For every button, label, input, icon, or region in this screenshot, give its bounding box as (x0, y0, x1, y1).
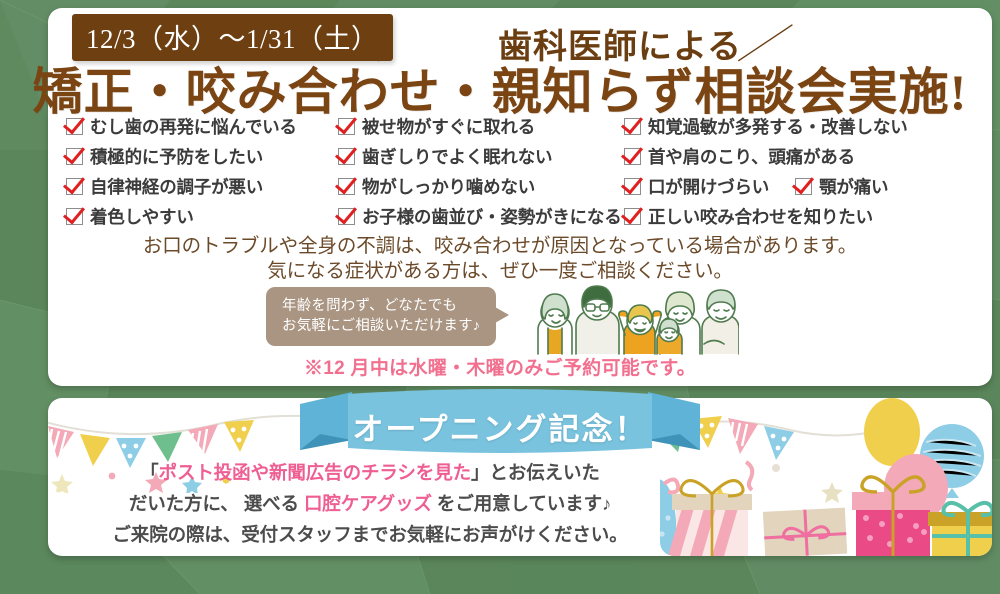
checkbox-checked-icon[interactable] (624, 118, 641, 135)
checklist-item[interactable]: 顎が痛い (795, 174, 888, 199)
checkbox-checked-icon[interactable] (338, 148, 355, 165)
campaign-line-2: だいた方に、 選べる 口腔ケアグッズ をご用意しています♪ (60, 488, 680, 519)
lead-paragraph: お口のトラブルや全身の不調は、咬み合わせが原因となっている場合があります。 気に… (0, 234, 1000, 284)
checklist-item-label: むし歯の再発に悩んでいる (90, 114, 297, 139)
checklist-item-label: 顎が痛い (819, 174, 888, 199)
checkbox-checked-icon[interactable] (66, 118, 83, 135)
checkbox-checked-icon[interactable] (338, 178, 355, 195)
checklist-row: 被せ物がすぐに取れる (338, 114, 623, 142)
checklist-row: 正しい咬み合わせを知りたい (624, 204, 976, 232)
speech-bubble: 年齢を問わず、どなたでも お気軽にご相談いただけます♪ (266, 287, 496, 346)
campaign-line-1-tail: 」とお伝えいた (471, 462, 600, 483)
lead-line-1: お口のトラブルや全身の不調は、咬み合わせが原因となっている場合があります。 (0, 234, 1000, 259)
checklist-item[interactable]: 知覚過敏が多発する・改善しない (624, 114, 908, 139)
checklist-item-label: 着色しやすい (90, 204, 194, 229)
checklist-item[interactable]: 積極的に予防をしたい (66, 144, 263, 169)
checklist-item-label: 口が開けづらい (648, 174, 769, 199)
checklist-item[interactable]: 被せ物がすぐに取れる (338, 114, 535, 139)
checklist-item-label: 自律神経の調子が悪い (90, 174, 263, 199)
reservation-note: ※12 月中は水曜・木曜のみご予約可能です。 (0, 353, 1000, 380)
checkbox-checked-icon[interactable] (624, 148, 641, 165)
quote-open: 「 (140, 462, 158, 483)
checklist-column-3: 知覚過敏が多発する・改善しない 首や肩のこり、頭痛がある 口が開けづらい 顎が痛… (624, 114, 976, 234)
lead-line-2: 気になる症状がある方は、ぜひ一度ご相談ください。 (0, 259, 1000, 284)
checklist-item-label: 積極的に予防をしたい (90, 144, 263, 169)
checklist-item[interactable]: 物がしっかり噛めない (338, 174, 535, 199)
checklist-item[interactable]: 首や肩のこり、頭痛がある (624, 144, 855, 169)
checkbox-checked-icon[interactable] (338, 118, 355, 135)
checklist-item-label: 正しい咬み合わせを知りたい (648, 204, 873, 229)
checklist-row: 口が開けづらい 顎が痛い (624, 174, 976, 202)
checklist-item[interactable]: 自律神経の調子が悪い (66, 174, 263, 199)
checklist-row: 物がしっかり噛めない (338, 174, 623, 202)
checkbox-checked-icon[interactable] (66, 148, 83, 165)
campaign-highlight-2: 口腔ケアグッズ (304, 493, 432, 514)
checklist-item-label: お子様の歯並び・姿勢がきになる (362, 204, 622, 229)
campaign-highlight-1: ポスト投函や新聞広告のチラシを見た (159, 462, 471, 483)
bubble-line-1: 年齢を問わず、どなたでも (282, 296, 480, 316)
checklist-column-1: むし歯の再発に悩んでいる 積極的に予防をしたい 自律神経の調子が悪い 着色しやす… (66, 114, 336, 234)
checkbox-checked-icon[interactable] (624, 178, 641, 195)
checkbox-checked-icon[interactable] (66, 208, 83, 225)
checklist-column-2: 被せ物がすぐに取れる 歯ぎしりでよく眠れない 物がしっかり噛めない お子様の歯並… (338, 114, 623, 234)
checklist-row: 自律神経の調子が悪い (66, 174, 336, 202)
checklist-row: 首や肩のこり、頭痛がある (624, 144, 976, 172)
checklist-row: 知覚過敏が多発する・改善しない (624, 114, 976, 142)
checklist-row: 積極的に予防をしたい (66, 144, 336, 172)
checklist-item[interactable]: 口が開けづらい (624, 174, 769, 199)
checklist-item[interactable]: むし歯の再発に悩んでいる (66, 114, 297, 139)
date-badge: 12/3（水）〜1/31（土） (72, 14, 393, 61)
checklist-row: お子様の歯並び・姿勢がきになる (338, 204, 623, 232)
ribbon-label: オープニング記念！ (0, 404, 1000, 449)
checkbox-checked-icon[interactable] (795, 178, 812, 195)
checklist-row: むし歯の再発に悩んでいる (66, 114, 336, 142)
checklist-item-label: 被せ物がすぐに取れる (362, 114, 535, 139)
campaign-line-2-tail: をご用意しています♪ (432, 493, 611, 514)
checklist-item-label: 首や肩のこり、頭痛がある (648, 144, 855, 169)
checkbox-checked-icon[interactable] (338, 208, 355, 225)
checklist-row: 着色しやすい (66, 204, 336, 232)
bubble-line-2: お気軽にご相談いただけます♪ (282, 316, 480, 336)
family-illustration-icon (524, 276, 739, 356)
campaign-line-2-head: だいた方に、 選べる (129, 493, 304, 514)
checklist-item[interactable]: 着色しやすい (66, 204, 194, 229)
checklist-item-label: 歯ぎしりでよく眠れない (362, 144, 552, 169)
campaign-line-1: 「ポスト投函や新聞広告のチラシを見た」とお伝えいた (60, 457, 680, 488)
checkbox-checked-icon[interactable] (624, 208, 641, 225)
checklist-item[interactable]: 歯ぎしりでよく眠れない (338, 144, 552, 169)
checklist-item[interactable]: お子様の歯並び・姿勢がきになる (338, 204, 622, 229)
campaign-line-3: ご来院の際は、受付スタッフまでお気軽にお声がけください。 (60, 519, 680, 550)
checklist-row: 歯ぎしりでよく眠れない (338, 144, 623, 172)
checklist-item-label: 物がしっかり噛めない (362, 174, 535, 199)
campaign-description: 「ポスト投函や新聞広告のチラシを見た」とお伝えいた だいた方に、 選べる 口腔ケ… (60, 457, 680, 550)
checklist-item[interactable]: 正しい咬み合わせを知りたい (624, 204, 873, 229)
checklist-item-label: 知覚過敏が多発する・改善しない (648, 114, 908, 139)
checkbox-checked-icon[interactable] (66, 178, 83, 195)
